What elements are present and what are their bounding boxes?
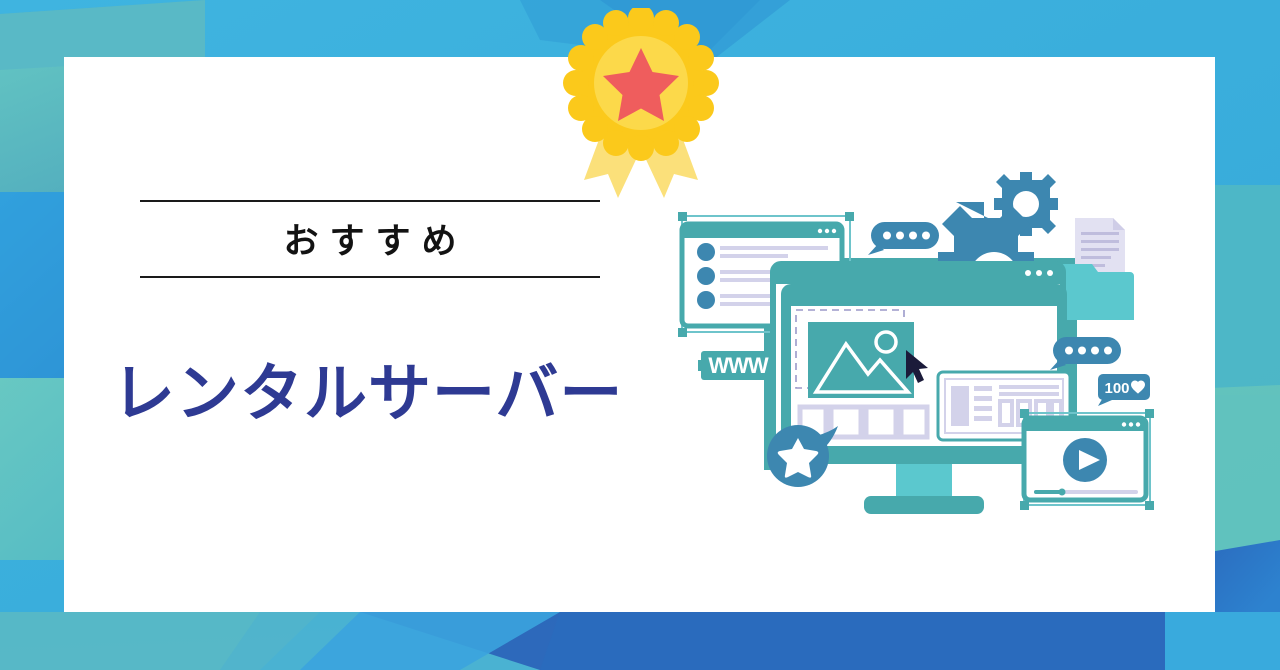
video-player — [1020, 409, 1154, 510]
kicker-label: おすすめ — [140, 212, 600, 270]
thumbnail-row — [800, 407, 927, 437]
image-placeholder — [808, 322, 914, 398]
chat-bubble-top — [868, 222, 939, 255]
kicker-rule-bottom — [140, 276, 600, 278]
chat-bubble-right — [1050, 337, 1121, 370]
svg-text:WWW: WWW — [708, 353, 769, 378]
likes-badge: 100 — [1098, 374, 1150, 406]
page-title: レンタルサーバー — [112, 358, 623, 430]
www-tag: WWW — [701, 351, 776, 380]
poster-canvas: おすすめ レンタルサーバー — [0, 0, 1280, 670]
kicker-rule-top — [140, 200, 600, 202]
star-badge — [767, 425, 838, 487]
likes-count: 100 — [1104, 380, 1129, 397]
web-design-illustration: WWW — [668, 160, 1180, 550]
